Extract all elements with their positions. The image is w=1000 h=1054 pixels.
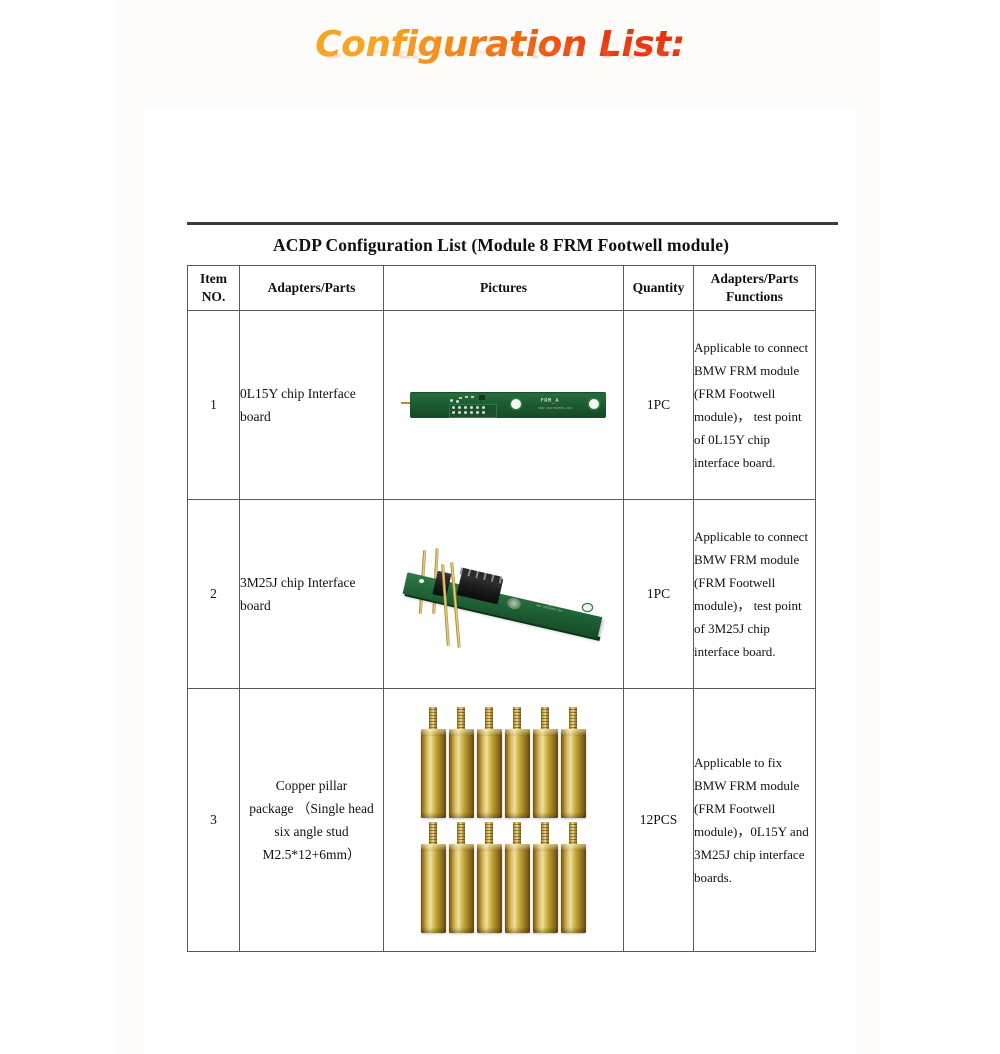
standoff-pillar — [561, 822, 586, 933]
standoff-threaded-stud — [457, 822, 465, 846]
standoff-hex-body — [477, 844, 502, 933]
pcb-smd-component — [471, 396, 474, 398]
part-name-line: package （Single head — [249, 801, 373, 816]
document-heading: ACDP Configuration List (Module 8 FRM Fo… — [187, 225, 815, 265]
column-header-functions: Adapters/Parts Functions — [694, 266, 816, 311]
pcb-chip — [479, 395, 485, 400]
standoff-hex-body — [561, 729, 586, 818]
picture-copper-pillars — [384, 707, 623, 933]
pcb-mounting-hole — [589, 399, 599, 409]
pcb-pad — [470, 411, 473, 414]
standoff-hex-body — [505, 844, 530, 933]
pcb-mounting-hole — [583, 604, 592, 611]
standoff-pillar — [421, 822, 446, 933]
pcb-silkscreen-label: FRM_A — [541, 398, 560, 404]
column-header-pictures: Pictures — [384, 266, 624, 311]
standoff-threaded-stud — [485, 822, 493, 846]
standoff-hex-body — [505, 729, 530, 818]
pcb-pad — [482, 406, 485, 409]
pcb-pad — [458, 406, 461, 409]
column-header-quantity: Quantity — [624, 266, 694, 311]
pcb-smd-component — [459, 397, 462, 399]
standoff-threaded-stud — [541, 822, 549, 846]
cell-quantity: 1PC — [624, 311, 694, 500]
pcb-pad — [452, 411, 455, 414]
pcb-pin-header — [449, 404, 497, 418]
pcb-substrate — [410, 392, 606, 418]
pcb-interface-board-graphic: FRM_A WWW.INSTRUMEX.ORG — [401, 390, 607, 420]
pcb-pad — [456, 400, 459, 403]
page-root: Configuration List: Configuration List: … — [0, 0, 1000, 1054]
pcb-pad — [482, 411, 485, 414]
part-name-line: M2.5*12+6mm） — [263, 847, 361, 862]
cell-adapters-parts: 0L15Y chip Interface board — [240, 311, 384, 500]
pcb-angled-interface-board-graphic: FRM_B WWW.INSTRUMEX.ORG — [397, 534, 611, 654]
standoff-hex-body — [449, 844, 474, 933]
cell-quantity: 1PC — [624, 500, 694, 689]
picture-frm-a-board: FRM_A WWW.INSTRUMEX.ORG — [384, 390, 623, 420]
standoff-pillar — [449, 707, 474, 818]
table-row: 1 0L15Y chip Interface board — [188, 311, 816, 500]
standoff-pillar — [477, 822, 502, 933]
standoff-row — [416, 822, 592, 933]
standoff-hex-body — [533, 729, 558, 818]
standoff-hex-body — [421, 729, 446, 818]
standoff-hex-body — [449, 729, 474, 818]
part-name-line: six angle stud — [274, 824, 348, 839]
configuration-table: Item NO. Adapters/Parts Pictures Quantit… — [187, 265, 816, 952]
pcb-pad — [458, 411, 461, 414]
pcb-mounting-hole — [511, 399, 521, 409]
part-name-line: Copper pillar — [276, 778, 348, 793]
standoff-pillar — [533, 707, 558, 818]
pcb-pad — [464, 411, 467, 414]
standoff-threaded-stud — [513, 707, 521, 731]
standoff-pillar — [505, 822, 530, 933]
pcb-pad — [464, 406, 467, 409]
pcb-mounting-hole — [419, 579, 424, 583]
standoff-threaded-stud — [569, 707, 577, 731]
pcb-pad — [452, 406, 455, 409]
cell-adapters-parts: Copper pillar package （Single head six a… — [240, 689, 384, 952]
pcb-silkscreen-sublabel: WWW.INSTRUMEX.ORG — [539, 406, 573, 410]
standoff-threaded-stud — [569, 822, 577, 846]
standoff-pillar — [561, 707, 586, 818]
cell-item-no: 1 — [188, 311, 240, 500]
table-header: Item NO. Adapters/Parts Pictures Quantit… — [188, 266, 816, 311]
pcb-pad — [476, 411, 479, 414]
cell-picture — [384, 689, 624, 952]
document-body: ACDP Configuration List (Module 8 FRM Fo… — [187, 222, 838, 952]
table-body: 1 0L15Y chip Interface board — [188, 311, 816, 952]
column-header-functions-line1: Adapters/Parts — [711, 271, 799, 286]
standoff-pillar — [533, 822, 558, 933]
cell-adapters-parts: 3M25J chip Interface board — [240, 500, 384, 689]
cell-functions: Applicable to connect BMW FRM module (FR… — [694, 311, 816, 500]
cell-functions: Applicable to connect BMW FRM module (FR… — [694, 500, 816, 689]
standoff-pillar — [421, 707, 446, 818]
pcb-pad — [450, 399, 453, 402]
standoff-hex-body — [421, 844, 446, 933]
table-row: 2 3M25J chip Interface board — [188, 500, 816, 689]
pcb-pad — [476, 406, 479, 409]
standoff-hex-body — [477, 729, 502, 818]
column-header-item-no-line2: NO. — [202, 289, 226, 304]
standoff-threaded-stud — [429, 707, 437, 731]
cell-picture: FRM_A WWW.INSTRUMEX.ORG — [384, 311, 624, 500]
standoff-hex-body — [561, 844, 586, 933]
standoff-row — [416, 707, 592, 818]
table-row: 3 Copper pillar package （Single head six… — [188, 689, 816, 952]
standoff-pillar — [505, 707, 530, 818]
standoff-threaded-stud — [541, 707, 549, 731]
table-header-row: Item NO. Adapters/Parts Pictures Quantit… — [188, 266, 816, 311]
column-header-item-no: Item NO. — [188, 266, 240, 311]
standoff-threaded-stud — [513, 822, 521, 846]
cell-functions: Applicable to fix BMW FRM module (FRM Fo… — [694, 689, 816, 952]
standoff-pillar — [449, 822, 474, 933]
standoff-hex-body — [533, 844, 558, 933]
pcb-pad — [470, 406, 473, 409]
column-header-item-no-line1: Item — [200, 271, 227, 286]
cell-picture: FRM_B WWW.INSTRUMEX.ORG — [384, 500, 624, 689]
column-header-adapters-parts: Adapters/Parts — [240, 266, 384, 311]
cell-item-no: 2 — [188, 500, 240, 689]
column-header-functions-line2: Functions — [726, 289, 783, 304]
cell-item-no: 3 — [188, 689, 240, 952]
standoff-pillar — [477, 707, 502, 818]
standoff-threaded-stud — [457, 707, 465, 731]
standoff-threaded-stud — [485, 707, 493, 731]
pcb-smd-component — [465, 396, 468, 398]
picture-3m25j-board: FRM_B WWW.INSTRUMEX.ORG — [384, 534, 623, 654]
standoff-threaded-stud — [429, 822, 437, 846]
cell-quantity: 12PCS — [624, 689, 694, 952]
brass-standoffs-graphic — [416, 707, 592, 933]
